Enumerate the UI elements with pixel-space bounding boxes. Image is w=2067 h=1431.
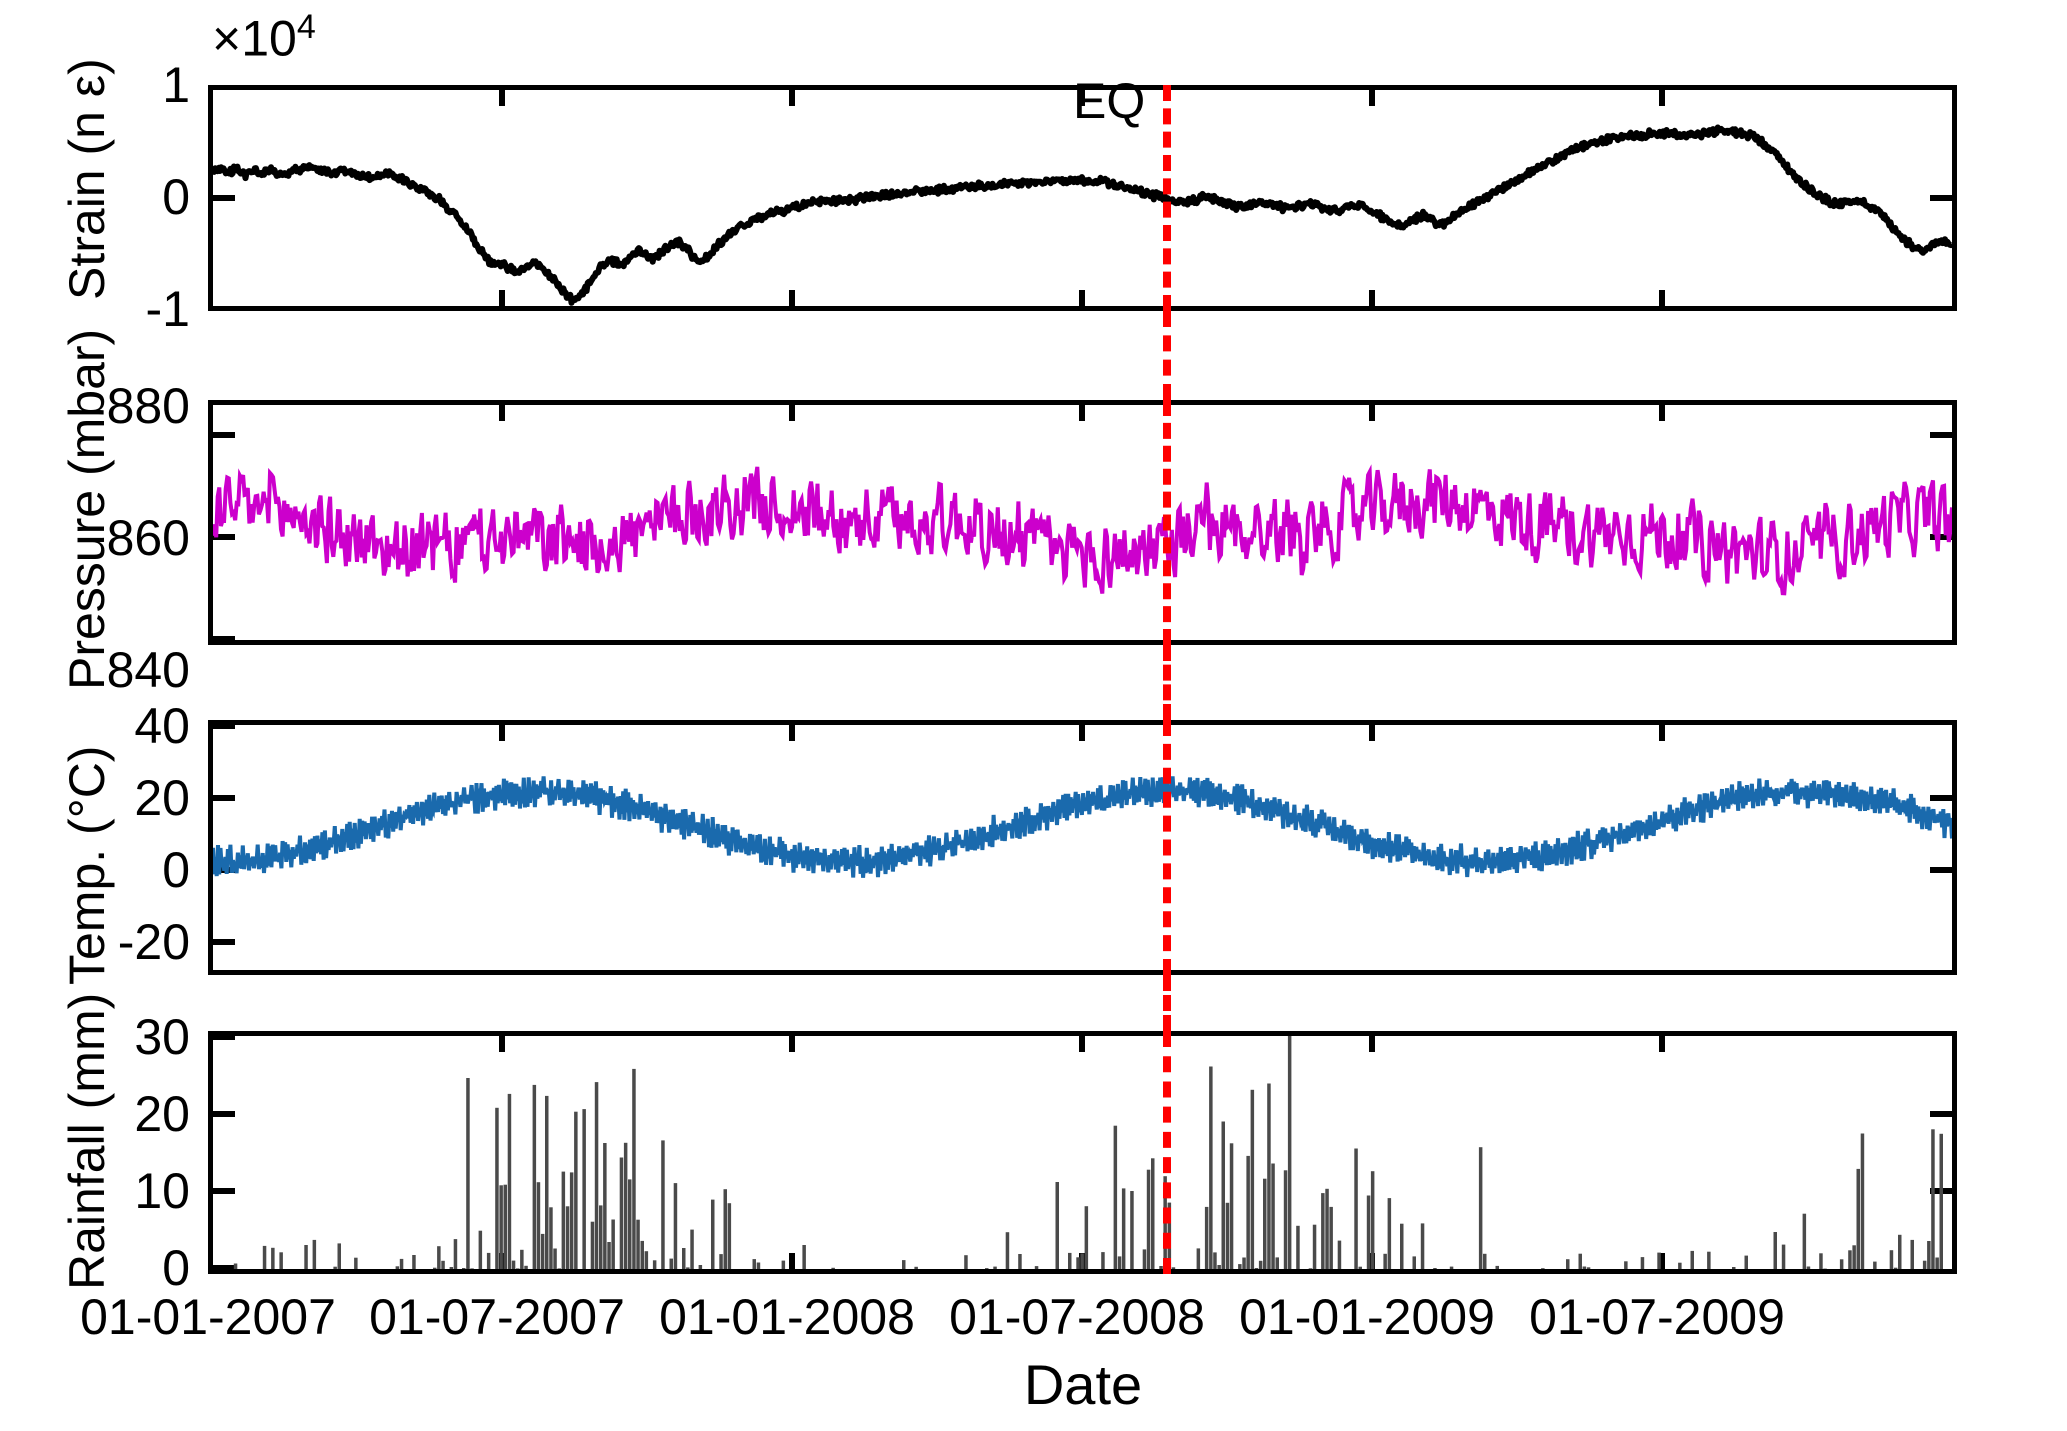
rainfall-bar xyxy=(620,1158,624,1270)
rainfall-ticks xyxy=(213,1036,1952,1269)
rainfall-bar xyxy=(591,1222,595,1269)
rainfall-bar xyxy=(504,1185,508,1269)
rainfall-bar xyxy=(1927,1241,1931,1269)
rainfall-bar xyxy=(1076,1257,1080,1269)
rainfall-bar xyxy=(1085,1206,1089,1269)
rainfall-bar xyxy=(624,1143,628,1269)
rainfall-bar xyxy=(595,1082,599,1269)
ytick-temp-0: 0 xyxy=(60,841,190,899)
rainfall-bar xyxy=(400,1259,404,1269)
rainfall-bar xyxy=(1329,1207,1333,1269)
ytick-strain--1: -1 xyxy=(100,280,190,338)
rainfall-bar xyxy=(682,1248,686,1269)
rainfall-bar xyxy=(1130,1191,1134,1269)
ytick-strain-1: 1 xyxy=(110,56,190,114)
rainfall-bar xyxy=(1068,1253,1072,1269)
rainfall-bar xyxy=(690,1230,694,1269)
rainfall-bar xyxy=(338,1243,342,1269)
rainfall-bar xyxy=(566,1206,570,1269)
rainfall-bar xyxy=(1861,1134,1865,1270)
rainfall-bar xyxy=(1163,1176,1167,1269)
xtick-0: 01-01-2007 xyxy=(80,1288,336,1346)
rainfall-bar xyxy=(562,1172,566,1269)
xtick-2: 01-01-2008 xyxy=(659,1288,915,1346)
eq-line-gap-2 xyxy=(1163,645,1171,720)
rainfall-bar xyxy=(674,1183,678,1269)
rainfall-bar xyxy=(753,1259,757,1269)
rainfall-bar xyxy=(1657,1253,1661,1269)
ytick-pressure-880: 880 xyxy=(20,377,190,435)
rainfall-bar xyxy=(603,1143,607,1269)
rainfall-bar xyxy=(1159,1266,1163,1269)
rainfall-bar xyxy=(1807,1267,1811,1270)
panel-temperature xyxy=(208,720,1957,975)
rainfall-bar xyxy=(263,1246,267,1269)
rainfall-bar xyxy=(1213,1252,1217,1269)
rainfall-bar xyxy=(1413,1256,1417,1269)
rainfall-bar xyxy=(1898,1235,1902,1269)
rainfall-bar xyxy=(1118,1256,1122,1269)
rainfall-bar xyxy=(1354,1149,1358,1270)
rainfall-bar xyxy=(1388,1198,1392,1269)
xtick-4: 01-01-2009 xyxy=(1239,1288,1495,1346)
panel-rainfall xyxy=(208,1031,1957,1274)
rainfall-bar xyxy=(1288,1036,1292,1269)
rainfall-bar xyxy=(1255,1268,1259,1269)
rainfall-bar xyxy=(1238,1264,1242,1269)
rainfall-bar xyxy=(1852,1245,1856,1269)
rainfall-bar xyxy=(1678,1263,1682,1269)
rainfall-bar xyxy=(234,1264,238,1270)
rainfall-bar xyxy=(1819,1253,1823,1269)
rainfall-bar xyxy=(661,1140,665,1269)
rainfall-bar xyxy=(1583,1267,1587,1270)
rainfall-bar xyxy=(1217,1265,1221,1269)
rainfall-bar xyxy=(1056,1182,1060,1269)
exponent-value: 4 xyxy=(297,8,316,46)
rainfall-bar xyxy=(271,1248,275,1269)
rainfall-bar xyxy=(1147,1170,1151,1269)
rainfall-bar xyxy=(686,1267,690,1269)
rainfall-bar xyxy=(1840,1259,1844,1269)
rainfall-bar xyxy=(454,1239,458,1269)
rainfall-bar xyxy=(1371,1171,1375,1269)
ytick-pressure-840: 840 xyxy=(20,641,190,699)
rainfall-bar xyxy=(1782,1245,1786,1269)
rainfall-bar xyxy=(1566,1259,1570,1269)
rainfall-bar xyxy=(1018,1254,1022,1269)
rainfall-bar xyxy=(1313,1225,1317,1269)
rainfall-bar xyxy=(782,1261,786,1269)
rainfall-bar xyxy=(1006,1232,1010,1269)
rainfall-bar xyxy=(1911,1240,1915,1269)
rainfall-bar xyxy=(466,1078,470,1269)
rainfall-bar xyxy=(553,1249,557,1270)
ytick-strain-0: 0 xyxy=(110,168,190,226)
rainfall-bar xyxy=(1263,1179,1267,1269)
ytick-temp-20: 20 xyxy=(60,769,190,827)
rainfall-bar xyxy=(757,1263,761,1270)
rainfall-bar xyxy=(1205,1207,1209,1269)
panel-pressure xyxy=(208,400,1957,645)
rainfall-bar xyxy=(1774,1232,1778,1269)
rainfall-bar xyxy=(313,1240,317,1269)
rainfall-bar xyxy=(1624,1261,1628,1269)
rainfall-bar xyxy=(450,1267,454,1269)
rainfall-bar xyxy=(653,1260,657,1269)
rainfall-bar xyxy=(1359,1267,1363,1269)
rainfall-bar xyxy=(1935,1258,1939,1270)
ytick-rain-10: 10 xyxy=(60,1162,190,1220)
rainfall-bar xyxy=(512,1261,516,1269)
xtick-5: 01-07-2009 xyxy=(1529,1288,1785,1346)
rainfall-bar xyxy=(516,1268,520,1269)
rainfall-bar xyxy=(508,1094,512,1269)
rainfall-bar xyxy=(699,1265,703,1269)
rainfall-bar xyxy=(1496,1266,1500,1269)
rainfall-bar xyxy=(1251,1090,1255,1269)
rainfall-bar xyxy=(1230,1143,1234,1269)
rainfall-bar xyxy=(1321,1193,1325,1269)
rainfall-bar xyxy=(985,1268,989,1269)
rainfall-bar xyxy=(719,1254,723,1269)
rainfall-bar xyxy=(433,1268,437,1269)
rainfall-bar xyxy=(1732,1267,1736,1269)
xtick-1: 01-07-2007 xyxy=(369,1288,625,1346)
rainfall-bar xyxy=(412,1255,416,1269)
rainfall-bar xyxy=(1890,1250,1894,1269)
rainfall-bar xyxy=(570,1172,574,1269)
rainfall-bar xyxy=(1035,1266,1039,1269)
rainfall-bar xyxy=(670,1259,674,1269)
rainfall-bar xyxy=(495,1108,499,1269)
rainfall-bar xyxy=(1483,1254,1487,1269)
rainfall-bar xyxy=(645,1251,649,1269)
ytick-rain-30: 30 xyxy=(60,1008,190,1066)
rainfall-bar xyxy=(914,1267,918,1269)
rainfall-bar xyxy=(1691,1251,1695,1269)
rainfall-bar xyxy=(607,1242,611,1269)
rainfall-bar xyxy=(1209,1067,1213,1270)
eq-line-gap-3 xyxy=(1163,975,1171,1031)
rainfall-bar xyxy=(831,1268,835,1269)
rainfall-bar xyxy=(1143,1249,1147,1269)
rainfall-bar xyxy=(1114,1126,1118,1269)
temperature-trace xyxy=(213,776,1952,877)
rainfall-bar xyxy=(333,1267,337,1269)
rainfall-bar xyxy=(964,1255,968,1269)
rainfall-bar xyxy=(1080,1253,1084,1269)
rainfall-bar xyxy=(802,1245,806,1269)
rainfall-bar xyxy=(354,1258,358,1269)
rainfall-bar xyxy=(470,1268,474,1269)
ytick-rain-20: 20 xyxy=(60,1085,190,1143)
rainfall-bar xyxy=(1267,1084,1271,1270)
rainfall-bar xyxy=(1383,1254,1387,1269)
rainfall-bar xyxy=(724,1189,728,1269)
figure-root: Strain (n ε) Pressure (mbar) Temp. (°C) … xyxy=(0,0,2067,1431)
rainfall-bar xyxy=(1259,1261,1263,1269)
ytick-temp-40: 40 xyxy=(60,697,190,755)
rainfall-bar xyxy=(1400,1224,1404,1269)
rainfall-bar xyxy=(1309,1268,1313,1269)
rainfall-bar xyxy=(1707,1252,1711,1269)
pressure-trace xyxy=(213,467,1952,594)
exponent-prefix: ×10 xyxy=(212,11,297,67)
rainfall-bar xyxy=(462,1268,466,1269)
rainfall-bar xyxy=(1803,1214,1807,1269)
rainfall-bar xyxy=(628,1179,632,1269)
ytick-pressure-860: 860 xyxy=(20,509,190,567)
rainfall-bar xyxy=(396,1266,400,1269)
rainfall-bar xyxy=(1367,1196,1371,1270)
rainfall-bar xyxy=(541,1234,545,1269)
exponent-multiplier: ×104 xyxy=(212,8,316,68)
rainfall-bar xyxy=(558,1268,562,1269)
rainfall-bar xyxy=(304,1245,308,1269)
rainfall-bar xyxy=(1172,1267,1176,1269)
rainfall-bar xyxy=(524,1266,528,1269)
rainfall-bar xyxy=(1479,1147,1483,1269)
rainfall-bar xyxy=(1587,1267,1591,1269)
rainfall-bar xyxy=(1894,1268,1898,1269)
rainfall-bar xyxy=(279,1252,283,1269)
rainfall-bar xyxy=(499,1185,503,1269)
xtick-3: 01-07-2008 xyxy=(949,1288,1205,1346)
rainfall-bar xyxy=(1325,1189,1329,1269)
rainfall-bar xyxy=(1641,1257,1645,1269)
rainfall-bar xyxy=(1421,1223,1425,1269)
rainfall-bar xyxy=(902,1260,906,1269)
rainfall-bar xyxy=(1450,1267,1454,1269)
rainfall-bar xyxy=(599,1205,603,1269)
rainfall-bar xyxy=(611,1220,615,1270)
rainfall-bar xyxy=(1226,1203,1230,1269)
rainfall-bar xyxy=(632,1069,636,1269)
rainfall-bar xyxy=(1101,1252,1105,1269)
rainfall-bar xyxy=(545,1096,549,1269)
eq-annotation-label: EQ xyxy=(1073,72,1145,130)
rainfall-bar xyxy=(728,1203,732,1269)
rainfall-bar xyxy=(574,1112,578,1269)
rainfall-bar xyxy=(1168,1203,1172,1269)
rainfall-bar xyxy=(1579,1254,1583,1269)
eq-line-gap-1 xyxy=(1163,311,1171,400)
rainfall-bar xyxy=(1338,1241,1342,1269)
xaxis-label: Date xyxy=(1024,1352,1142,1417)
rainfall-bar xyxy=(1151,1158,1155,1269)
rainfall-bar xyxy=(437,1246,441,1269)
rainfall-bar xyxy=(520,1250,524,1269)
rainfall-bar xyxy=(993,1267,997,1269)
rainfall-bar xyxy=(1296,1226,1300,1269)
rainfall-bar xyxy=(1541,1268,1545,1269)
rainfall-bar xyxy=(479,1231,483,1269)
strain-trace xyxy=(213,128,1952,303)
temperature-ticks xyxy=(213,725,1952,942)
rainfall-bar xyxy=(1923,1261,1927,1269)
rainfall-bar xyxy=(1433,1268,1437,1269)
rainfall-bar xyxy=(636,1220,640,1269)
rainfall-bar xyxy=(441,1261,445,1269)
rainfall-bar xyxy=(1848,1250,1852,1269)
rainfall-bar xyxy=(1745,1256,1749,1269)
rainfall-bar xyxy=(1271,1164,1275,1270)
rainfall-bar xyxy=(549,1207,553,1269)
rainfall-bar xyxy=(1122,1188,1126,1269)
rainfall-bar xyxy=(1931,1129,1935,1269)
pressure-plot-area xyxy=(213,405,1952,640)
rainfall-bar xyxy=(1873,1262,1877,1269)
rainfall-bar xyxy=(1276,1257,1280,1269)
rainfall-bar xyxy=(1284,1170,1288,1269)
rainfall-bar xyxy=(1940,1134,1944,1269)
rainfall-bar xyxy=(1197,1248,1201,1269)
rainfall-bar xyxy=(1222,1122,1226,1270)
rainfall-plot-area xyxy=(213,1036,1952,1269)
rainfall-bars xyxy=(234,1036,1943,1269)
rainfall-bar xyxy=(711,1200,715,1269)
ytick-temp--20: -20 xyxy=(40,913,190,971)
rainfall-bar xyxy=(1246,1156,1250,1269)
rainfall-bar xyxy=(533,1085,537,1269)
rainfall-bar xyxy=(582,1109,586,1269)
rainfall-bar xyxy=(1857,1169,1861,1269)
rainfall-bar xyxy=(487,1253,491,1269)
ylabel-strain: Strain (n ε) xyxy=(58,58,116,300)
temperature-plot-area xyxy=(213,725,1952,970)
rainfall-bar xyxy=(1242,1258,1246,1270)
rainfall-bar xyxy=(537,1182,541,1269)
rainfall-bar xyxy=(641,1241,645,1269)
